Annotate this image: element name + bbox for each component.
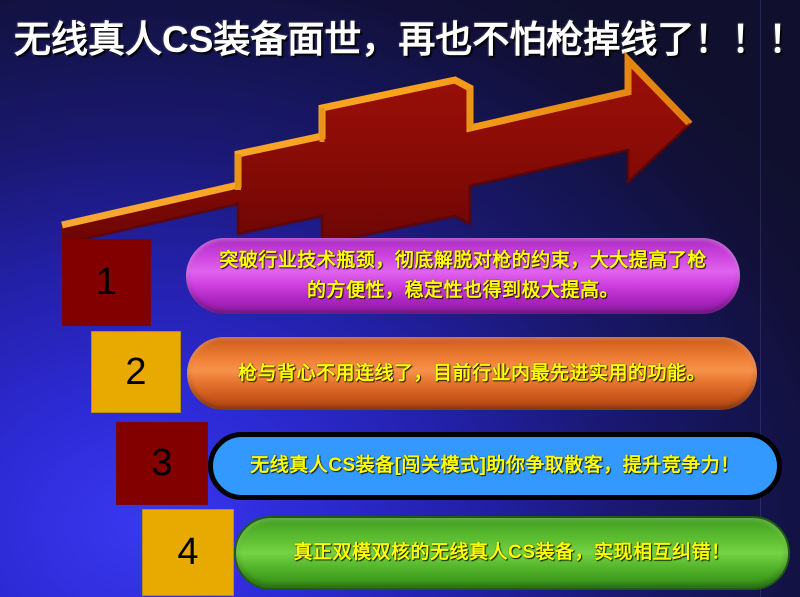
step-pill-text-3: 无线真人CS装备[闯关模式]助你争取散客，提升竞争力！ — [229, 451, 761, 481]
step-pill-4[interactable]: 真正双模双核的无线真人CS装备，实现相互纠错！ — [234, 516, 790, 590]
step-number-box-2[interactable]: 2 — [92, 332, 180, 412]
step-number-box-1[interactable]: 1 — [63, 240, 150, 325]
step-pill-text-2: 枪与背心不用连线了，目前行业内最先进实用的功能。 — [207, 359, 737, 389]
arrow-body — [62, 60, 690, 244]
step-pill-3[interactable]: 无线真人CS装备[闯关模式]助你争取散客，提升竞争力！ — [208, 432, 782, 500]
step-number-label-4: 4 — [177, 531, 198, 574]
ascending-stepped-arrow — [0, 40, 800, 250]
presentation-slide: 无线真人CS装备面世，再也不怕枪掉线了！！！ — [0, 0, 800, 597]
step-pill-2[interactable]: 枪与背心不用连线了，目前行业内最先进实用的功能。 — [187, 337, 757, 410]
step-pill-1[interactable]: 突破行业技术瓶颈，彻底解脱对枪的约束，大大提高了枪的方便性，稳定性也得到极大提高… — [186, 238, 740, 314]
step-number-label-2: 2 — [125, 351, 146, 394]
step-number-label-3: 3 — [151, 442, 172, 485]
step-pill-text-4: 真正双模双核的无线真人CS装备，实现相互纠错！ — [258, 538, 766, 568]
step-number-box-4[interactable]: 4 — [143, 510, 233, 595]
step-number-label-1: 1 — [96, 261, 117, 304]
step-number-box-3[interactable]: 3 — [117, 423, 207, 504]
step-pill-text-1: 突破行业技术瓶颈，彻底解脱对枪的约束，大大提高了枪的方便性，稳定性也得到极大提高… — [214, 246, 712, 306]
